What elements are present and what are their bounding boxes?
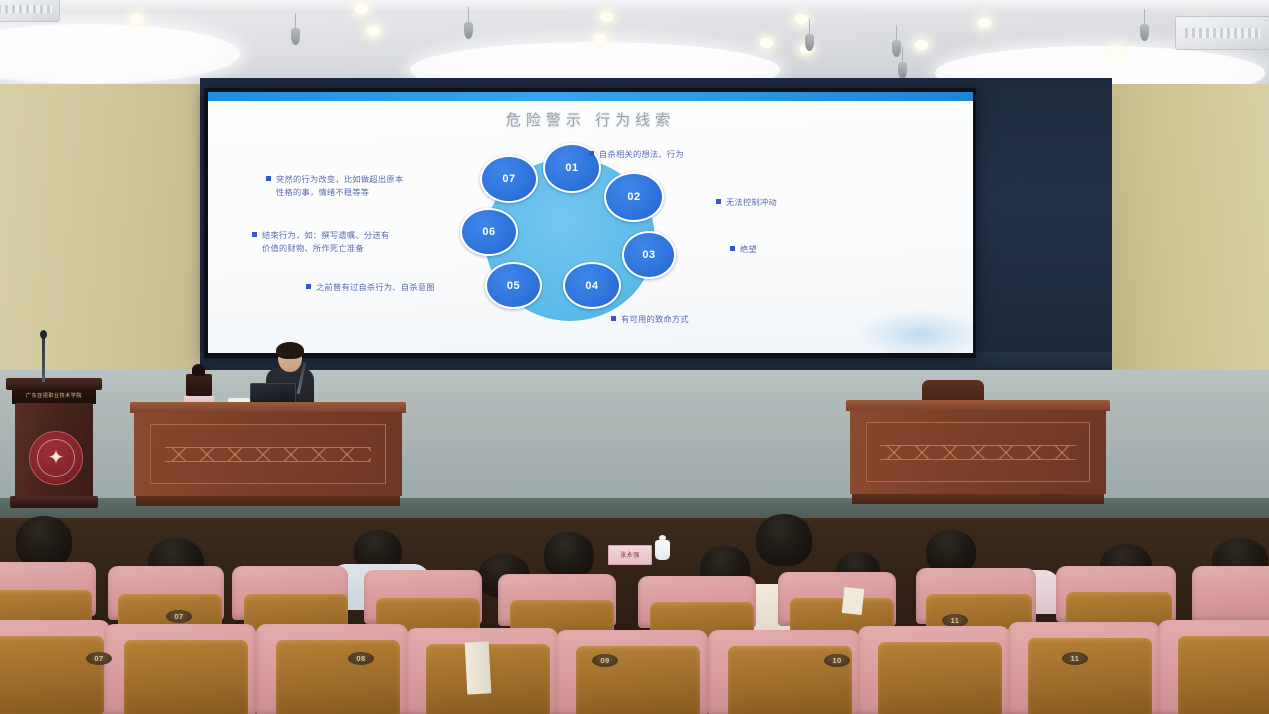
spot-light [367,26,380,36]
bullet-square-icon [611,316,616,321]
slide-bullet-right-1: 自杀相关的想法、行为 [589,149,804,162]
emblem-inner-mark: ✦ [37,439,75,477]
teacup [655,540,670,560]
bullet-square-icon [266,176,271,181]
bullet-line-1: 之前曾有过自杀行为、自杀意图 [316,283,435,292]
school-emblem-icon: ✦ [29,431,83,485]
spot-light [355,4,368,14]
desk-front-panel [850,410,1106,494]
slide-bullet-right-4: 有可用的致命方式 [611,314,811,327]
seat-wood-back [276,640,400,714]
spot-light [594,34,607,44]
spot-light [131,14,144,24]
spot-light [915,40,928,50]
seat-number-plate: 09 [592,654,618,667]
projection-screen: 危险警示 行为线索 01 02 03 04 05 06 07 突然的行为改变，比… [204,88,976,358]
seat-number-plate: 08 [348,652,374,665]
projector-glare [858,310,973,353]
audience-head [756,514,812,566]
ac-vent [0,0,60,22]
seat-wood-back [878,642,1002,714]
notebook [465,641,492,694]
spot-light [600,12,613,22]
wall-right [1106,84,1269,404]
pendant-speaker [1140,24,1149,41]
desk-zigzag-ornament [880,445,1075,460]
paper-sheet [842,587,865,615]
bullet-square-icon [252,232,257,237]
speaker-desk [134,402,402,506]
diagram-node-02: 02 [604,172,664,222]
pendant-speaker [898,62,907,79]
bullet-line-2: 性格的事，情绪不稳等等 [266,187,491,200]
slide-accent-bar [208,92,973,101]
desk-base [852,494,1104,504]
spot-light [760,38,773,48]
pendant-speaker [291,28,300,45]
desk-zigzag-ornament [165,447,371,462]
desk-front-panel [134,412,402,496]
podium-base [10,496,98,508]
slide-bullet-right-3: 绝望 [730,244,850,257]
pendant-speaker [805,34,814,51]
seat-back [1192,566,1269,622]
desk-object-dark [186,374,212,396]
ceiling-oval-light [0,24,240,84]
spot-light [978,18,991,28]
desk-inset-panel [150,424,386,484]
seat-number-plate: 11 [1062,652,1088,665]
bullet-square-icon [306,284,311,289]
bullet-line-1: 自杀相关的想法、行为 [599,150,684,159]
seat-wood-back [1178,636,1269,714]
slide-bullet-left-3: 之前曾有过自杀行为、自杀意图 [306,282,521,295]
laptop-screen [250,383,296,404]
audience-head [544,532,594,578]
pendant-speaker [464,22,473,39]
podium-institution-name: 广东亚视职业技术学院 [12,389,96,404]
audience-head [16,516,72,568]
podium: 广东亚视职业技术学院 ✦ [10,378,98,508]
name-placard: 张永强 [608,545,652,565]
slide-bullet-right-2: 无法控制冲动 [716,197,866,210]
spot-light [795,14,808,24]
bullet-line-1: 结束行为，如：撰写遗嘱、分送有 [262,231,389,240]
speaker-hair [276,342,304,359]
podium-microphone-icon [42,336,45,382]
seat-number-plate: 07 [166,610,192,623]
pendant-speaker [892,40,901,57]
slide-bullet-left-1: 突然的行为改变，比如做超出原本 性格的事，情绪不稳等等 [266,174,491,199]
spot-light [1110,46,1123,56]
bullet-line-1: 无法控制冲动 [726,198,777,207]
presentation-slide: 危险警示 行为线索 01 02 03 04 05 06 07 突然的行为改变，比… [208,92,973,353]
slide-bullet-left-2: 结束行为，如：撰写遗嘱、分送有 价值的财物、所作死亡准备 [252,230,492,255]
bullet-line-1: 有可用的致命方式 [621,315,689,324]
seat-number-plate: 07 [86,652,112,665]
bullet-square-icon [716,199,721,204]
ac-vent [1175,16,1269,50]
second-desk [850,400,1106,506]
ceiling-strip [0,0,1269,14]
bullet-square-icon [589,151,594,156]
seat-wood-back [0,636,104,714]
desk-base [136,496,400,506]
bullet-line-1: 绝望 [740,245,757,254]
seat-wood-back [1028,638,1152,714]
wall-left [0,84,212,384]
diagram-node-03: 03 [622,231,676,279]
seat-wood-back [124,640,248,714]
diagram-node-04: 04 [563,262,621,309]
slide-title: 危险警示 行为线索 [208,109,973,130]
seat-number-plate: 10 [824,654,850,667]
lecture-hall-photo: 危险警示 行为线索 01 02 03 04 05 06 07 突然的行为改变，比… [0,0,1269,714]
bullet-line-1: 突然的行为改变，比如做超出原本 [276,175,403,184]
desk-inset-panel [866,422,1090,482]
podium-body: ✦ [15,403,93,501]
bullet-line-2: 价值的财物、所作死亡准备 [252,243,492,256]
bullet-square-icon [730,246,735,251]
